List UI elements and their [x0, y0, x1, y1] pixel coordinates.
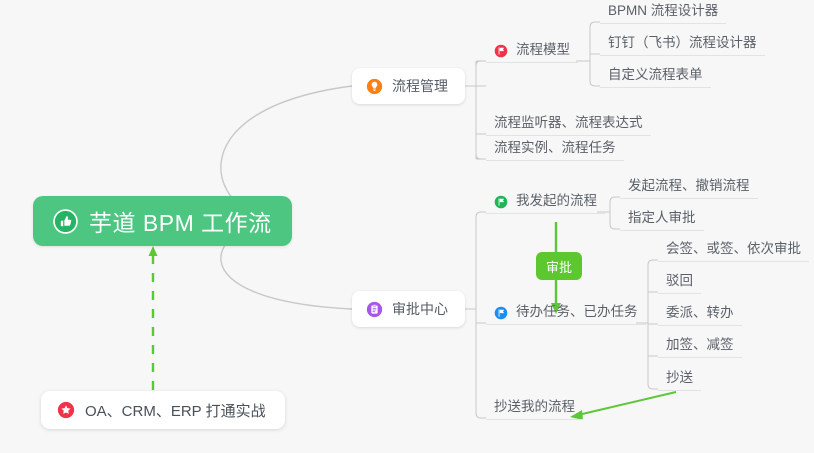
- node-add-remove-sign[interactable]: 加签、减签: [658, 331, 742, 358]
- node-my-initiated-process[interactable]: 我发起的流程: [486, 187, 605, 214]
- approval-badge[interactable]: 审批: [536, 252, 582, 280]
- node-delegate-transfer-label: 委派、转办: [666, 306, 734, 326]
- mindmap-canvas: 芋道 BPM 工作流 流程管理 审批中心: [0, 0, 814, 453]
- root-label: 芋道 BPM 工作流: [89, 204, 272, 238]
- star-icon: [57, 401, 75, 419]
- node-start-cancel-process-label: 发起流程、撤销流程: [628, 179, 750, 199]
- wire-pm-spine: [476, 61, 486, 159]
- node-custom-process-form[interactable]: 自定义流程表单: [600, 61, 711, 88]
- wire-todo-spine: [648, 260, 658, 389]
- node-approval-center-label: 审批中心: [392, 299, 448, 319]
- thumbs-up-icon: [53, 209, 78, 234]
- node-custom-process-form-label: 自定义流程表单: [608, 68, 703, 88]
- flag-icon: [494, 44, 508, 58]
- node-dingtalk-feishu-designer[interactable]: 钉钉（飞书）流程设计器: [600, 29, 765, 56]
- node-process-management-label: 流程管理: [392, 76, 448, 96]
- node-add-remove-sign-label: 加签、减签: [666, 338, 734, 358]
- node-cc[interactable]: 抄送: [658, 364, 701, 391]
- wire-model-spine: [590, 22, 600, 86]
- node-dingtalk-feishu-designer-label: 钉钉（飞书）流程设计器: [608, 36, 757, 56]
- node-cc-to-me-process[interactable]: 抄送我的流程: [486, 393, 583, 420]
- node-my-initiated-process-label: 我发起的流程: [516, 194, 597, 214]
- node-assignee-approval-label: 指定人审批: [628, 211, 696, 231]
- node-bpmn-designer[interactable]: BPMN 流程设计器: [600, 0, 726, 24]
- clipboard-icon: [366, 301, 383, 318]
- arrow-cc-to-ccmine: [578, 392, 676, 415]
- wire-ac-spine: [476, 212, 486, 418]
- node-oa-crm-erp-label: OA、CRM、ERP 打通实战: [85, 400, 266, 421]
- flag-icon: [494, 306, 508, 320]
- lightbulb-icon: [366, 78, 383, 95]
- node-countersign-orsign-sequential[interactable]: 会签、或签、依次审批: [658, 235, 809, 262]
- node-todo-done-tasks-label: 待办任务、已办任务: [516, 305, 638, 325]
- node-delegate-transfer[interactable]: 委派、转办: [658, 299, 742, 326]
- node-oa-crm-erp[interactable]: OA、CRM、ERP 打通实战: [41, 391, 285, 429]
- node-countersign-orsign-sequential-label: 会签、或签、依次审批: [666, 242, 801, 262]
- flag-icon: [494, 195, 508, 209]
- node-cc-to-me-process-label: 抄送我的流程: [494, 400, 575, 420]
- node-assignee-approval[interactable]: 指定人审批: [620, 204, 704, 231]
- node-reject-label: 驳回: [666, 274, 693, 294]
- approval-badge-label: 审批: [546, 257, 572, 276]
- root-node[interactable]: 芋道 BPM 工作流: [33, 196, 292, 246]
- node-cc-label: 抄送: [666, 371, 693, 391]
- node-todo-done-tasks[interactable]: 待办任务、已办任务: [486, 298, 646, 325]
- node-process-instance-task[interactable]: 流程实例、流程任务: [486, 134, 624, 161]
- node-process-listener-expression[interactable]: 流程监听器、流程表达式: [486, 109, 651, 136]
- arrowhead-callout-to-root: [149, 246, 158, 256]
- node-reject[interactable]: 驳回: [658, 267, 701, 294]
- node-start-cancel-process[interactable]: 发起流程、撤销流程: [620, 172, 758, 199]
- node-approval-center[interactable]: 审批中心: [352, 291, 465, 327]
- node-bpmn-designer-label: BPMN 流程设计器: [608, 4, 718, 24]
- node-process-management[interactable]: 流程管理: [352, 68, 465, 104]
- node-process-instance-task-label: 流程实例、流程任务: [494, 141, 616, 161]
- wire-pm-spine-round: [476, 61, 486, 159]
- node-process-model[interactable]: 流程模型: [486, 36, 578, 63]
- node-process-listener-expression-label: 流程监听器、流程表达式: [494, 116, 643, 136]
- node-process-model-label: 流程模型: [516, 43, 570, 63]
- wire-mine-spine: [610, 197, 620, 229]
